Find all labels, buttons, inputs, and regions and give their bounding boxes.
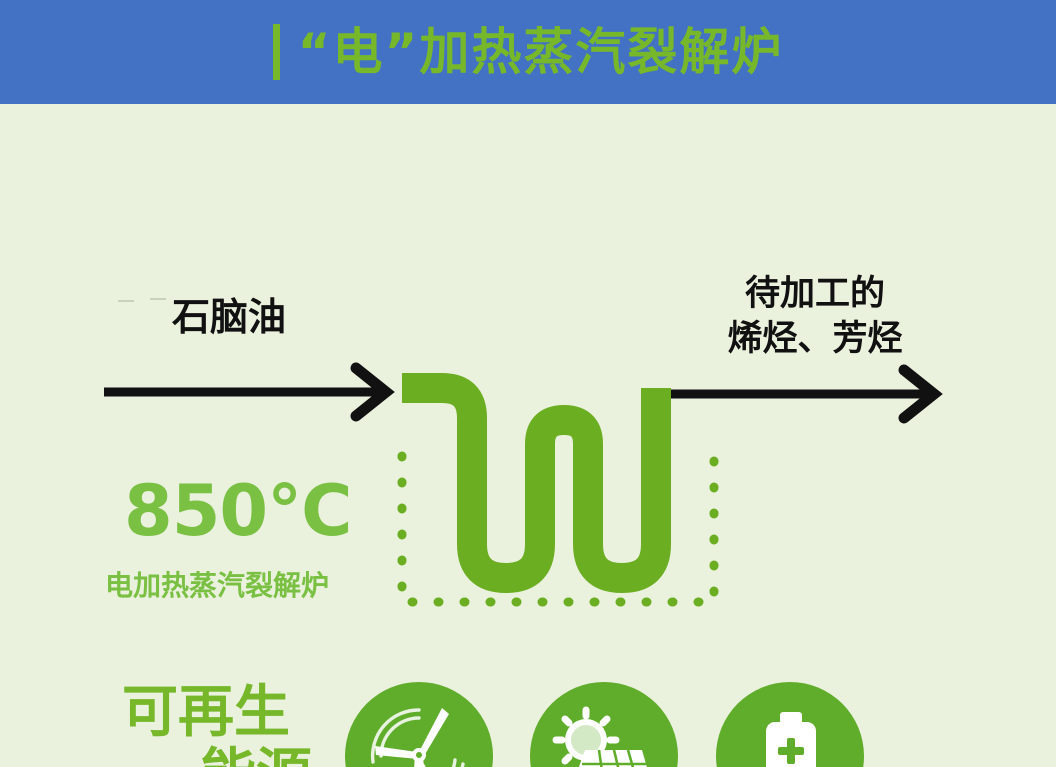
title-bar-mark-icon — [273, 24, 280, 80]
renewable-label-line-1: 可再生 — [122, 680, 290, 745]
furnace-caption-label: 电加热蒸汽裂解炉 — [105, 572, 329, 600]
header-title-row: “电”加热蒸汽裂解炉 — [0, 0, 1056, 104]
wind-turbine-icon — [345, 682, 493, 767]
page-title: “电”加热蒸汽裂解炉 — [298, 27, 784, 77]
input-feed-label: 石脑油 — [172, 296, 286, 340]
solar-energy-badge[interactable] — [530, 682, 678, 767]
solar-panel-icon — [530, 682, 678, 767]
battery-icon — [716, 682, 864, 767]
furnace-coil-icon — [402, 388, 656, 578]
renewable-energy-label: 可再生 能源 — [122, 682, 312, 767]
tick-mark-icon — [118, 300, 134, 302]
cracking-furnace-graphic — [380, 254, 740, 614]
slide-canvas: “电”加热蒸汽裂解炉 石脑油 待加工的 烯烃、芳烃 — [0, 0, 1056, 767]
furnace-temperature-label: 850°C — [124, 476, 352, 546]
renewable-label-line-2: 能源 — [122, 745, 312, 767]
input-flow-arrow-icon — [98, 362, 398, 422]
header-banner: “电”加热蒸汽裂解炉 — [0, 0, 1056, 104]
battery-storage-badge[interactable] — [716, 682, 864, 767]
diagram-area: 石脑油 待加工的 烯烃、芳烃 850°C 电加热蒸汽裂解炉 可再生 — [0, 104, 1056, 767]
tick-mark-icon — [150, 298, 166, 300]
wind-energy-badge[interactable] — [345, 682, 493, 767]
